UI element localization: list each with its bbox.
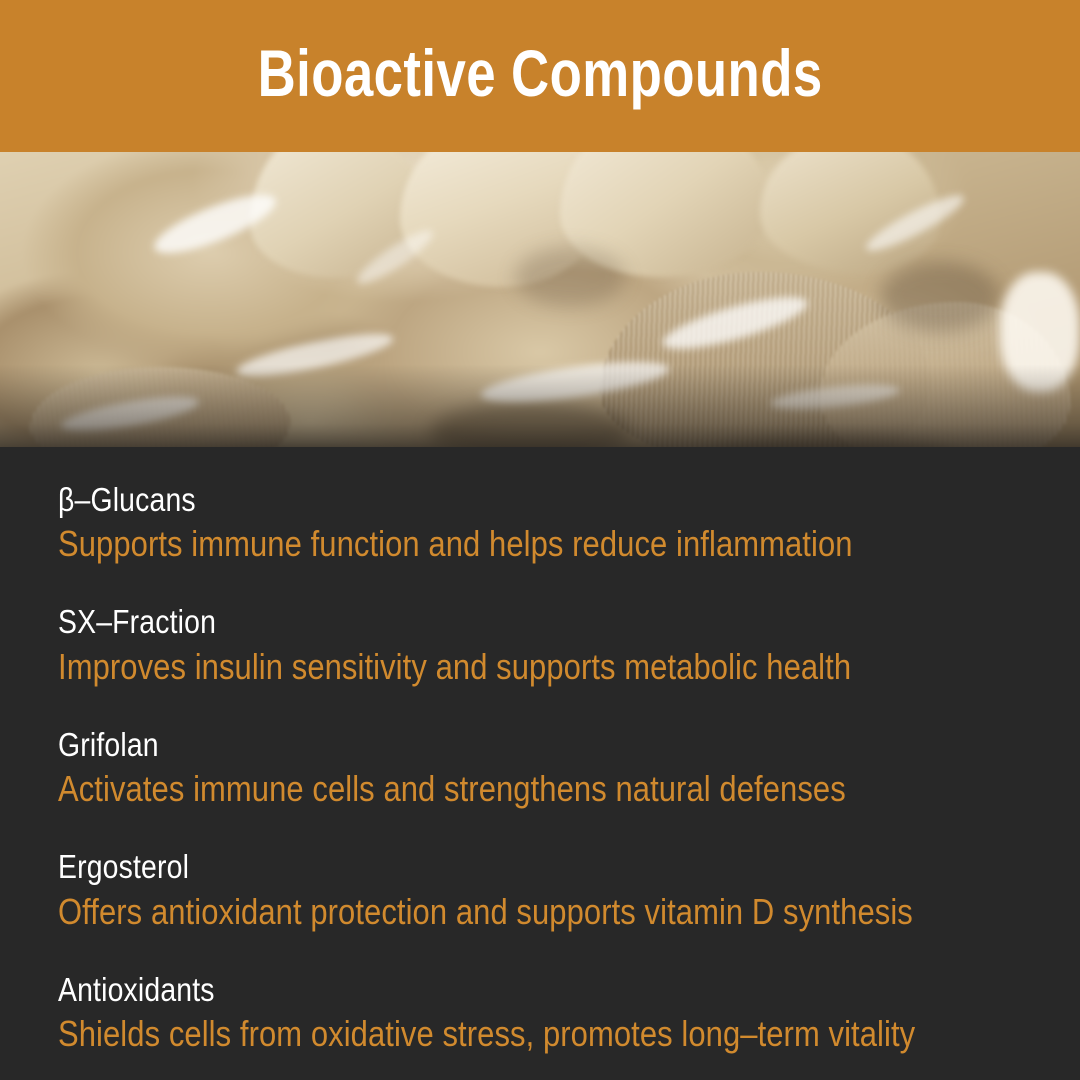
compound-description: Improves insulin sensitivity and support… [58,645,887,688]
compound-name: β–Glucans [58,481,887,519]
list-item: β–Glucans Supports immune function and h… [58,481,1022,565]
compound-description: Supports immune function and helps reduc… [58,522,887,565]
compound-name: Grifolan [58,726,887,764]
compound-name: Ergosterol [58,848,887,886]
list-item: Antioxidants Shields cells from oxidativ… [58,971,1022,1055]
compound-description: Shields cells from oxidative stress, pro… [58,1012,887,1055]
compound-description: Offers antioxidant protection and suppor… [58,890,887,933]
compound-name: SX–Fraction [58,603,887,641]
compound-name: Antioxidants [58,971,887,1009]
list-item: Ergosterol Offers antioxidant protection… [58,848,1022,932]
infographic-card: Bioactive Compounds β–Glucans Supports i… [0,0,1080,1080]
header-banner: Bioactive Compounds [0,0,1080,152]
compound-description: Activates immune cells and strengthens n… [58,767,887,810]
mushroom-photo [0,152,1080,447]
list-item: Grifolan Activates immune cells and stre… [58,726,1022,810]
page-title: Bioactive Compounds [258,40,823,112]
compound-list: β–Glucans Supports immune function and h… [0,447,1080,1080]
list-item: SX–Fraction Improves insulin sensitivity… [58,603,1022,687]
photo-vignette [0,152,1080,447]
